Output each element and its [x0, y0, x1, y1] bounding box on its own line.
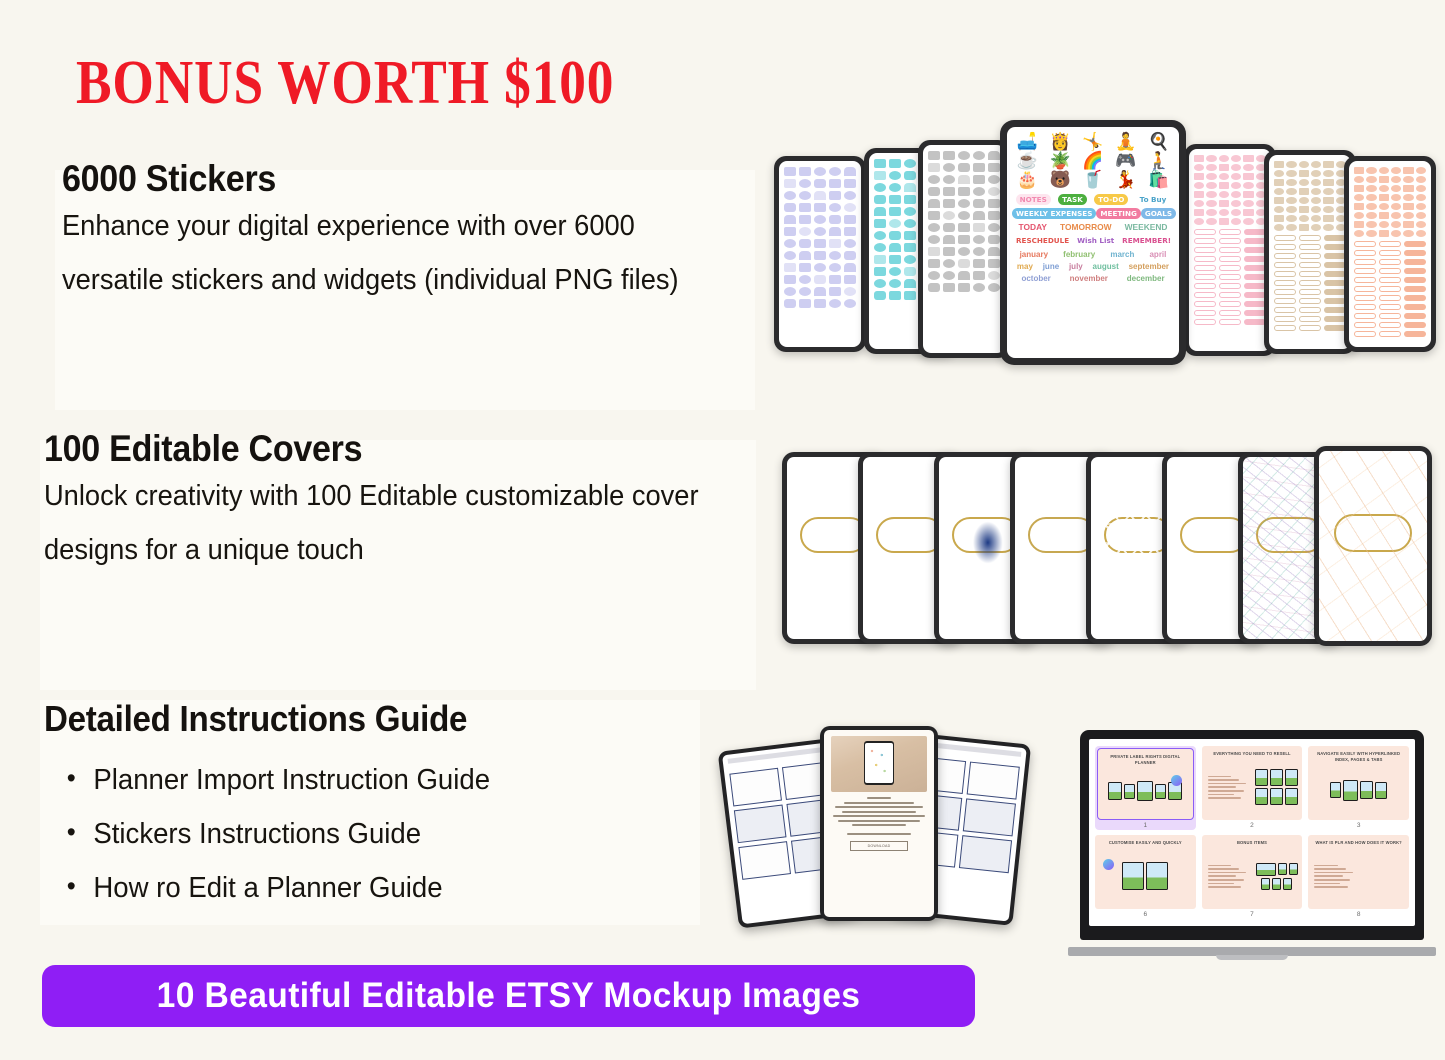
slide-thumbnail: WHAT IS PLR AND HOW DOES IT WORK?	[1308, 835, 1409, 909]
icon-sticker	[1366, 176, 1376, 183]
month-sticker: april	[1149, 250, 1166, 259]
label-banner-sticker	[1379, 322, 1401, 328]
shape-sticker	[943, 163, 955, 172]
shape-sticker	[988, 163, 1000, 172]
shape-sticker	[874, 171, 886, 180]
icon-sticker-grid	[1354, 167, 1426, 237]
label-banner-sticker	[1244, 274, 1266, 280]
slide-device-preview	[1285, 788, 1298, 805]
label-banner-sticker	[1244, 256, 1266, 262]
label-banner-sticker	[1299, 271, 1321, 277]
icon-sticker	[1231, 191, 1241, 198]
emoji-sticker: 🎂	[1012, 171, 1043, 188]
label-banner-sticker	[1299, 253, 1321, 259]
month-sticker-row: octobernovemberdecember	[1012, 274, 1174, 283]
shape-sticker	[814, 167, 826, 176]
icon-sticker	[1299, 206, 1309, 213]
slide-device-preview	[1155, 784, 1166, 799]
shape-sticker	[988, 235, 1000, 244]
shape-sticker	[958, 211, 970, 220]
shape-sticker	[958, 247, 970, 256]
icon-sticker	[1416, 212, 1426, 219]
label-banner-grid	[1274, 235, 1346, 331]
icon-sticker	[1366, 185, 1376, 192]
slide-device-preview	[1375, 782, 1387, 799]
label-banner-sticker	[1379, 286, 1401, 292]
sticker-tablet-screen	[1349, 161, 1431, 347]
label-banner-sticker	[1354, 295, 1376, 301]
emoji-sticker: 🧎	[1143, 152, 1174, 169]
icon-sticker	[1366, 203, 1376, 210]
laptop-slide-1[interactable]: PRIVATE LABEL RIGHTS DIGITAL PLANNER1	[1095, 746, 1196, 830]
slide-text-line	[1208, 886, 1241, 888]
word-sticker: REMEMBER!	[1118, 235, 1175, 246]
etsy-mockup-banner[interactable]: 10 Beautiful Editable ETSY Mockup Images	[42, 965, 975, 1027]
word-sticker: TOMORROW	[1060, 222, 1112, 232]
slide-device-preview	[1285, 769, 1298, 786]
month-sticker: december	[1127, 274, 1165, 283]
label-banner-sticker	[1324, 235, 1346, 241]
shape-sticker	[904, 255, 916, 264]
word-sticker-rows: NOTESTASKTO-DOTo BuyWEEKLY EXPENSESMEETI…	[1012, 194, 1174, 246]
icon-sticker	[1379, 167, 1389, 174]
label-banner-sticker	[1404, 286, 1426, 292]
label-banner-sticker	[1299, 298, 1321, 304]
shape-sticker	[814, 227, 826, 236]
slide-badge-icon	[1171, 775, 1182, 786]
icon-sticker-grid	[1274, 161, 1346, 231]
shape-sticker	[928, 283, 940, 292]
label-banner-sticker	[1219, 238, 1241, 244]
shape-sticker	[904, 219, 916, 228]
icon-sticker	[1231, 155, 1241, 162]
icon-sticker	[1286, 179, 1296, 186]
label-banner-sticker	[1354, 268, 1376, 274]
icon-sticker	[1206, 191, 1216, 198]
label-banner-sticker	[1219, 301, 1241, 307]
icon-sticker	[1286, 188, 1296, 195]
label-banner-sticker	[1354, 313, 1376, 319]
slide-thumbnail: BONUS ITEMS	[1202, 835, 1303, 909]
icon-sticker	[1416, 221, 1426, 228]
icon-sticker	[1416, 185, 1426, 192]
shape-sticker	[973, 199, 985, 208]
shape-sticker	[889, 159, 901, 168]
label-banner-sticker	[1274, 307, 1296, 313]
icon-sticker	[1231, 218, 1241, 225]
icon-sticker	[1354, 167, 1364, 174]
icon-sticker	[1286, 161, 1296, 168]
shape-sticker	[844, 167, 856, 176]
shape-sticker	[958, 259, 970, 268]
label-banner-sticker	[1354, 304, 1376, 310]
label-banner-sticker	[1404, 268, 1426, 274]
shape-sticker	[844, 191, 856, 200]
icon-sticker	[1416, 167, 1426, 174]
shape-sticker	[799, 215, 811, 224]
label-banner-sticker	[1299, 307, 1321, 313]
word-sticker-row: WEEKLY EXPENSESMEETINGGOALS	[1012, 208, 1174, 219]
shape-sticker	[799, 179, 811, 188]
shape-sticker	[943, 271, 955, 280]
shape-sticker	[889, 291, 901, 300]
label-banner-sticker	[1274, 235, 1296, 241]
label-banner-sticker	[1324, 325, 1346, 331]
label-banner-sticker	[1194, 247, 1216, 253]
shape-sticker	[943, 223, 955, 232]
icon-sticker	[1311, 188, 1321, 195]
slide-device-preview	[1289, 863, 1298, 875]
slide-text-line	[1208, 865, 1232, 867]
dashboard-text-line	[852, 824, 906, 826]
dashboard-text-line	[833, 815, 925, 817]
label-banner-sticker	[1274, 262, 1296, 268]
month-sticker: june	[1043, 262, 1059, 271]
slide-device-preview	[1146, 862, 1168, 890]
word-sticker-row-big: TODAYTOMORROWWEEKEND	[1012, 222, 1174, 232]
shape-sticker	[973, 283, 985, 292]
label-banner-sticker	[1324, 253, 1346, 259]
shape-sticker	[988, 175, 1000, 184]
label-banner-sticker	[1219, 247, 1241, 253]
guide-bullet-list: Planner Import Instruction Guide Sticker…	[44, 754, 704, 916]
slide-thumbnail: NAVIGATE EASILY WITH HYPERLINKED INDEX, …	[1308, 746, 1409, 820]
label-banner-sticker	[1404, 313, 1426, 319]
slide-text-line	[1208, 797, 1241, 799]
shape-sticker	[814, 251, 826, 260]
laptop-slide-3[interactable]: NAVIGATE EASILY WITH HYPERLINKED INDEX, …	[1308, 746, 1409, 830]
shape-sticker	[814, 263, 826, 272]
shape-sticker	[784, 287, 796, 296]
shape-sticker	[928, 151, 940, 160]
label-banner-sticker	[1244, 310, 1266, 316]
shape-sticker	[784, 215, 796, 224]
slide-text-block	[1206, 774, 1253, 801]
icon-sticker	[1299, 197, 1309, 204]
icon-sticker	[1391, 167, 1401, 174]
section-covers: 100 Editable Covers Unlock creativity wi…	[44, 428, 744, 577]
product-name-line	[831, 833, 927, 835]
product-name	[847, 833, 910, 835]
slide-device-preview	[1283, 878, 1292, 890]
shape-sticker	[973, 235, 985, 244]
shape-sticker-grid	[928, 151, 1000, 292]
guide-screenshot	[963, 798, 1016, 836]
guide-screenshot	[729, 768, 782, 807]
shape-sticker	[874, 195, 886, 204]
slide-number: 2	[1202, 820, 1303, 830]
label-banner-sticker	[1219, 310, 1241, 316]
slide-thumbnail: PRIVATE LABEL RIGHTS DIGITAL PLANNER	[1097, 748, 1194, 820]
shape-sticker	[844, 227, 856, 236]
icon-sticker	[1231, 200, 1241, 207]
icon-sticker	[1391, 185, 1401, 192]
laptop-mockup: PRIVATE LABEL RIGHTS DIGITAL PLANNER1EVE…	[1068, 730, 1436, 970]
icon-sticker	[1311, 206, 1321, 213]
slide-title: EVERYTHING YOU NEED TO RESELL	[1205, 750, 1300, 759]
laptop-slide-2[interactable]: EVERYTHING YOU NEED TO RESELL2	[1202, 746, 1303, 830]
slide-text-line	[1208, 794, 1234, 796]
icon-sticker	[1416, 194, 1426, 201]
slide-text-block	[1312, 863, 1359, 890]
icon-sticker	[1206, 218, 1216, 225]
shape-sticker	[943, 283, 955, 292]
slide-device-preview	[1124, 784, 1135, 799]
label-banner-sticker	[1274, 325, 1296, 331]
shape-sticker	[943, 235, 955, 244]
shape-sticker	[784, 299, 796, 308]
label-banner-sticker	[1404, 259, 1426, 265]
month-sticker: november	[1070, 274, 1108, 283]
icon-sticker	[1379, 203, 1389, 210]
sticker-tablet-screen	[1269, 155, 1351, 349]
shape-sticker	[988, 199, 1000, 208]
icon-sticker	[1379, 194, 1389, 201]
slide-device-preview	[1360, 781, 1373, 799]
word-sticker: To Buy	[1136, 194, 1171, 205]
slide-thumbnail: CUSTOMISE EASILY AND QUICKLY	[1095, 835, 1196, 909]
icon-sticker	[1403, 230, 1413, 237]
word-sticker-row-small: RESCHEDULEWish ListREMEMBER!	[1012, 235, 1174, 246]
icon-sticker	[1243, 155, 1253, 162]
shape-sticker	[973, 211, 985, 220]
download-dashboard-tablet: DOWNLOAD	[820, 726, 938, 921]
label-banner-sticker	[1404, 277, 1426, 283]
icon-sticker	[1299, 215, 1309, 222]
icon-sticker	[1194, 191, 1204, 198]
shape-sticker	[973, 187, 985, 196]
sticker-tablet	[1184, 144, 1276, 356]
icon-sticker	[1219, 173, 1229, 180]
icon-sticker	[1206, 155, 1216, 162]
icon-sticker	[1219, 155, 1229, 162]
slide-device-preview	[1137, 781, 1153, 801]
label-banner-sticker	[1194, 238, 1216, 244]
sticker-tablet-screen	[923, 145, 1005, 353]
slide-device-preview	[1270, 769, 1283, 786]
shape-sticker	[889, 207, 901, 216]
shape-sticker	[973, 151, 985, 160]
shape-sticker	[799, 227, 811, 236]
shape-sticker	[889, 267, 901, 276]
shape-sticker	[988, 259, 1000, 268]
shape-sticker	[943, 199, 955, 208]
icon-sticker	[1206, 164, 1216, 171]
slide-number: 7	[1202, 909, 1303, 919]
shape-sticker	[829, 167, 841, 176]
shape-sticker	[784, 275, 796, 284]
label-banner-sticker	[1194, 283, 1216, 289]
emoji-sticker: 🛋️	[1012, 133, 1043, 150]
label-banner-sticker	[1299, 289, 1321, 295]
shape-sticker	[829, 287, 841, 296]
slide-number: 8	[1308, 909, 1409, 919]
label-banner-sticker	[1324, 289, 1346, 295]
label-banner-sticker	[1324, 307, 1346, 313]
slide-text-line	[1208, 868, 1239, 870]
shape-sticker	[904, 159, 916, 168]
label-banner-sticker	[1324, 271, 1346, 277]
icon-sticker	[1391, 194, 1401, 201]
label-banner-sticker	[1379, 313, 1401, 319]
shape-sticker	[874, 255, 886, 264]
label-banner-sticker	[1354, 250, 1376, 256]
slide-text-line	[1208, 786, 1237, 788]
month-sticker-row: januaryfebruarymarchapril	[1012, 250, 1174, 259]
word-sticker: TASK	[1058, 194, 1087, 205]
shape-sticker	[844, 203, 856, 212]
slide-title: BONUS ITEMS	[1205, 839, 1300, 848]
icon-sticker	[1416, 230, 1426, 237]
shape-sticker	[889, 219, 901, 228]
label-banner-sticker	[1324, 262, 1346, 268]
shape-sticker	[928, 247, 940, 256]
dashboard-text-line	[844, 802, 913, 804]
guide-screenshot	[959, 835, 1012, 873]
icon-sticker	[1274, 206, 1284, 213]
slide-text-line	[1208, 776, 1232, 778]
download-button[interactable]: DOWNLOAD	[850, 841, 908, 851]
label-banner-sticker	[1244, 292, 1266, 298]
shape-sticker	[814, 287, 826, 296]
icon-sticker	[1219, 182, 1229, 189]
slide-title: WHAT IS PLR AND HOW DOES IT WORK?	[1311, 839, 1406, 848]
dashboard-text-line	[835, 806, 923, 808]
laptop-screen: PRIVATE LABEL RIGHTS DIGITAL PLANNER1EVE…	[1080, 730, 1424, 940]
slide-title: CUSTOMISE EASILY AND QUICKLY	[1098, 839, 1193, 848]
list-item: Planner Import Instruction Guide	[44, 754, 671, 808]
label-banner-sticker	[1324, 244, 1346, 250]
slide-device-preview	[1261, 878, 1270, 890]
emoji-sticker: 🥤	[1078, 171, 1109, 188]
section-stickers: 6000 Stickers Enhance your digital exper…	[62, 158, 762, 307]
word-sticker: GOALS	[1141, 208, 1176, 219]
emoji-sticker: 🍳	[1143, 133, 1174, 150]
month-sticker: may	[1017, 262, 1033, 271]
emoji-sticker: 👸	[1045, 133, 1076, 150]
shape-sticker	[904, 183, 916, 192]
slide-number: 1	[1097, 820, 1194, 830]
slide-body	[1311, 848, 1406, 905]
shape-sticker	[784, 239, 796, 248]
icon-sticker	[1391, 230, 1401, 237]
shape-sticker	[829, 215, 841, 224]
icon-sticker	[1206, 182, 1216, 189]
slide-text-block	[1206, 863, 1253, 890]
icon-sticker	[1286, 206, 1296, 213]
sticker-tablet-featured: 🛋️👸🤸🧘🍳☕🪴🌈🎮🧎🎂🐻🥤💃🛍️NOTESTASKTO-DOTo BuyWEE…	[1000, 120, 1186, 365]
shape-sticker	[829, 263, 841, 272]
shape-sticker	[844, 239, 856, 248]
shape-sticker	[928, 211, 940, 220]
icon-sticker	[1323, 179, 1333, 186]
label-banner-sticker	[1274, 271, 1296, 277]
shape-sticker	[973, 223, 985, 232]
cover-artwork	[1319, 451, 1427, 641]
laptop-slide-7[interactable]: BONUS ITEMS7	[1202, 835, 1303, 919]
laptop-slide-8[interactable]: WHAT IS PLR AND HOW DOES IT WORK?8	[1308, 835, 1409, 919]
dashboard-text-line	[867, 797, 892, 799]
laptop-slide-6[interactable]: CUSTOMISE EASILY AND QUICKLY6	[1095, 835, 1196, 919]
icon-sticker	[1311, 179, 1321, 186]
icon-sticker	[1243, 200, 1253, 207]
icon-sticker	[1323, 224, 1333, 231]
shape-sticker	[943, 211, 955, 220]
shape-sticker	[874, 279, 886, 288]
shape-sticker	[784, 191, 796, 200]
icon-sticker	[1379, 176, 1389, 183]
dashboard-text-line	[838, 820, 921, 822]
label-banner-sticker	[1404, 331, 1426, 337]
icon-sticker	[1219, 191, 1229, 198]
icon-sticker	[1274, 170, 1284, 177]
month-sticker-row: mayjunejulyaugustseptember	[1012, 262, 1174, 271]
shape-sticker	[928, 235, 940, 244]
icon-sticker	[1323, 206, 1333, 213]
label-banner-sticker	[1299, 262, 1321, 268]
icon-sticker	[1323, 197, 1333, 204]
slide-text-line	[1208, 872, 1247, 874]
word-sticker: WEEKEND	[1125, 222, 1168, 232]
label-banner-sticker	[1379, 241, 1401, 247]
shape-sticker	[973, 163, 985, 172]
emoji-sticker-grid: 🛋️👸🤸🧘🍳☕🪴🌈🎮🧎🎂🐻🥤💃🛍️	[1012, 133, 1174, 188]
shape-sticker	[988, 247, 1000, 256]
list-item: Stickers Instructions Guide	[44, 808, 671, 862]
shape-sticker	[844, 287, 856, 296]
emoji-sticker: 🐻	[1045, 171, 1076, 188]
emoji-sticker: 🤸	[1078, 133, 1109, 150]
icon-sticker	[1354, 176, 1364, 183]
slide-text-line	[1314, 883, 1340, 885]
icon-sticker	[1231, 182, 1241, 189]
label-banner-sticker	[1299, 316, 1321, 322]
icon-sticker	[1366, 230, 1376, 237]
label-banner-sticker	[1379, 268, 1401, 274]
month-sticker: october	[1021, 274, 1050, 283]
label-banner-sticker	[1194, 229, 1216, 235]
label-banner-sticker	[1194, 292, 1216, 298]
label-banner-sticker	[1274, 298, 1296, 304]
label-banner-sticker	[1219, 256, 1241, 262]
icon-sticker	[1219, 164, 1229, 171]
shape-sticker	[844, 215, 856, 224]
shape-sticker	[958, 271, 970, 280]
shape-sticker	[784, 203, 796, 212]
icon-sticker	[1194, 209, 1204, 216]
icon-sticker	[1206, 200, 1216, 207]
sticker-tablet-featured-screen: 🛋️👸🤸🧘🍳☕🪴🌈🎮🧎🎂🐻🥤💃🛍️NOTESTASKTO-DOTo BuyWEE…	[1007, 127, 1179, 358]
word-sticker: RESCHEDULE	[1012, 235, 1073, 246]
icon-sticker	[1194, 200, 1204, 207]
slide-body	[1311, 764, 1406, 816]
shape-sticker	[958, 199, 970, 208]
word-sticker: TODAY	[1019, 222, 1047, 232]
dashboard-text-lines	[831, 797, 927, 826]
shape-sticker	[829, 191, 841, 200]
shape-sticker	[814, 179, 826, 188]
icon-sticker	[1311, 170, 1321, 177]
shape-sticker	[928, 163, 940, 172]
shape-sticker	[829, 179, 841, 188]
shape-sticker	[904, 243, 916, 252]
icon-sticker	[1366, 221, 1376, 228]
shape-sticker	[889, 279, 901, 288]
icon-sticker	[1286, 224, 1296, 231]
shape-sticker	[889, 243, 901, 252]
sticker-tablet	[1344, 156, 1436, 352]
icon-sticker	[1274, 215, 1284, 222]
